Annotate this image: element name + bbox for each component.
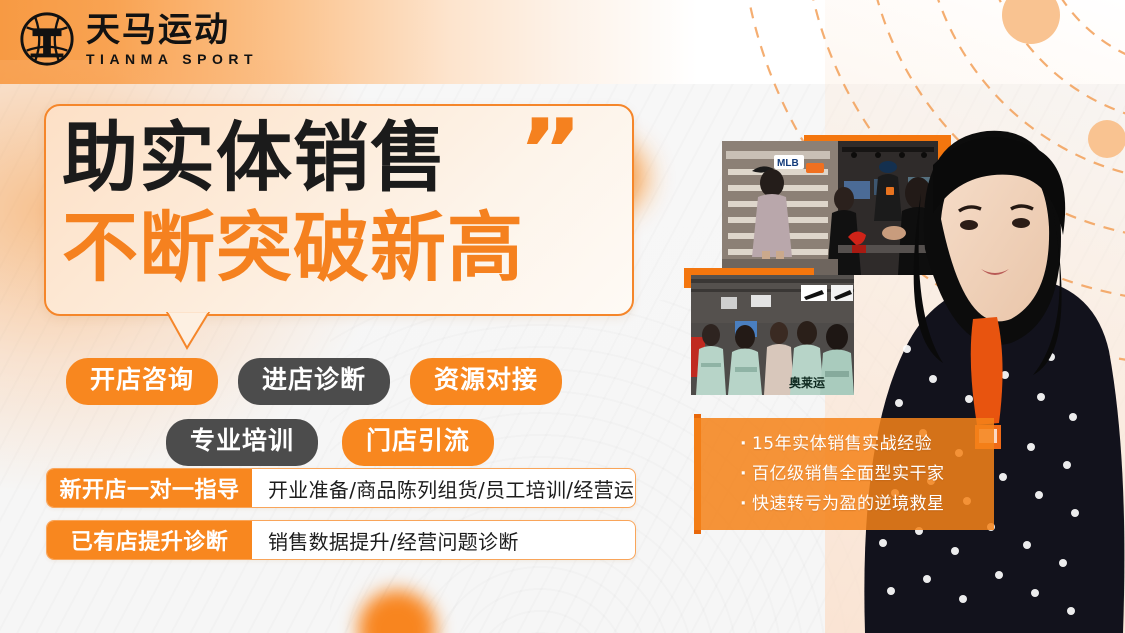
- service-detail-existing-store: 销售数据提升/经营问题诊断: [252, 521, 535, 559]
- credential-item-2: 百亿级销售全面型实干家: [740, 459, 994, 489]
- quote-mark-icon: ”: [518, 108, 583, 194]
- tag-store-diagnosis[interactable]: 进店诊断: [238, 358, 390, 405]
- tag-open-store-consult[interactable]: 开店咨询: [66, 358, 218, 405]
- credential-item-3: 快速转亏为盈的逆境救星: [740, 489, 994, 519]
- brand-name-cn: 天马运动: [86, 13, 258, 47]
- svg-text:MLB: MLB: [777, 158, 799, 169]
- promo-banner: 天马运动 TIANMA SPORT 助实体销售 不断突破新高 ” 开店咨询 进店…: [0, 0, 1125, 633]
- service-row-existing-store[interactable]: 已有店提升诊断 销售数据提升/经营问题诊断: [46, 520, 636, 560]
- tag-resource-matching[interactable]: 资源对接: [410, 358, 562, 405]
- headline-line-2: 不断突破新高: [62, 202, 662, 294]
- service-tag-group: 开店咨询 进店诊断 资源对接 专业培训 门店引流: [66, 358, 686, 480]
- basketball-t-logo-icon: [18, 10, 76, 68]
- tag-professional-training[interactable]: 专业培训: [166, 419, 318, 466]
- svg-text:奥莱运: 奥莱运: [789, 375, 825, 390]
- brand-logo[interactable]: 天马运动 TIANMA SPORT: [18, 10, 258, 68]
- service-label-new-store: 新开店一对一指导: [47, 469, 252, 507]
- service-detail-new-store: 开业准备/商品陈列组货/员工培训/经营运营: [252, 469, 636, 507]
- service-label-existing-store: 已有店提升诊断: [47, 521, 252, 559]
- credentials-panel: 15年实体销售实战经验 百亿级销售全面型实干家 快速转亏为盈的逆境救星: [694, 418, 994, 530]
- credential-item-1: 15年实体销售实战经验: [740, 429, 994, 459]
- tag-store-traffic[interactable]: 门店引流: [342, 419, 494, 466]
- service-detail-list: 新开店一对一指导 开业准备/商品陈列组货/员工培训/经营运营 已有店提升诊断 销…: [46, 468, 636, 572]
- tag-row-2: 专业培训 门店引流: [66, 419, 686, 466]
- brand-name-en: TIANMA SPORT: [86, 52, 258, 66]
- tag-row-1: 开店咨询 进店诊断 资源对接: [66, 358, 686, 405]
- service-row-new-store[interactable]: 新开店一对一指导 开业准备/商品陈列组货/员工培训/经营运营: [46, 468, 636, 508]
- presenter-portrait: [829, 73, 1125, 633]
